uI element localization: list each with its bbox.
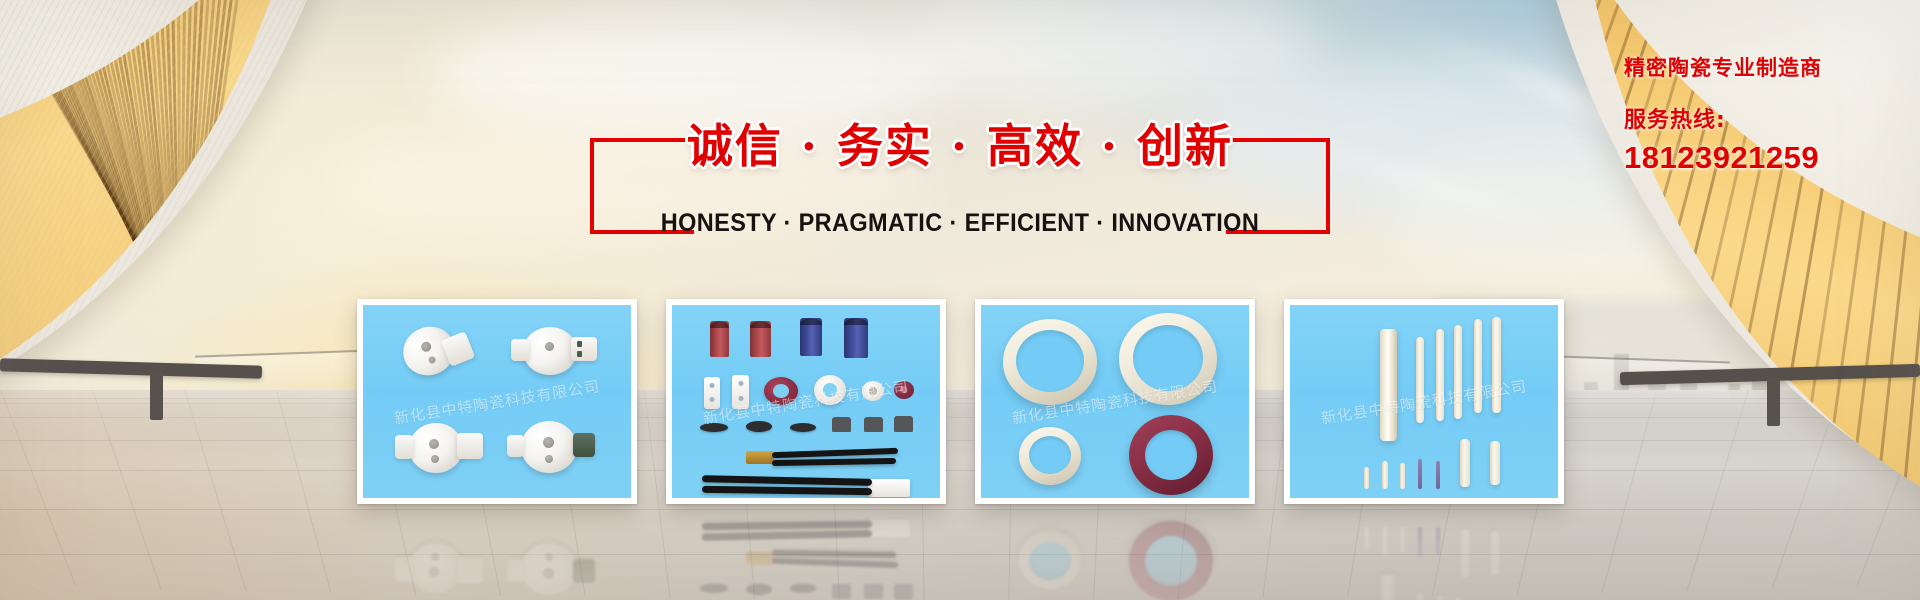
- white-connector: [868, 479, 910, 497]
- holder-hole: [428, 355, 437, 364]
- ceramic-ring-red: [764, 377, 798, 405]
- holder-hole: [429, 439, 439, 449]
- ceramic-lamp-holder: [523, 327, 577, 375]
- ceramic-plate: [732, 375, 749, 409]
- holder-tab-reflection: [457, 557, 483, 583]
- panel-image: 新化县中特陶瓷科技有限公司: [981, 305, 1249, 498]
- holder-hole: [420, 340, 433, 353]
- hotline-number[interactable]: 18123921259: [1624, 140, 1884, 176]
- product-panel-ceramic-rods-reflection: [1284, 512, 1564, 600]
- metal-clip: [894, 416, 913, 432]
- lead-wire-reflection: [772, 550, 896, 558]
- ceramic-rod-reflection: [1416, 593, 1424, 600]
- metal-leaf-contact-reflection: [700, 584, 728, 593]
- lead-wire-reflection: [702, 530, 872, 541]
- ceramic-ring-large: [1119, 313, 1217, 405]
- product-panel-row: 新化县中特陶瓷科技有限公司: [357, 299, 1564, 504]
- ceramic-lamp-holder-reflection: [409, 543, 463, 593]
- ceramic-ring-small-reflection: [1019, 531, 1081, 589]
- ceramic-pin-reflection: [1382, 527, 1388, 555]
- lead-wire: [772, 458, 896, 466]
- ceramic-pin: [1364, 467, 1369, 489]
- product-panel-insulators-and-leads[interactable]: 新化县中特陶瓷科技有限公司: [666, 299, 946, 504]
- holder-contact-pin: [577, 341, 582, 347]
- product-panel-ceramic-lamp-holders[interactable]: 新化县中特陶瓷科技有限公司: [357, 299, 637, 504]
- panel-image: 新化县中特陶瓷科技有限公司: [1290, 305, 1558, 498]
- ceramic-pin: [1400, 463, 1405, 489]
- ceramic-pin-reflection: [1400, 527, 1405, 553]
- holder-hole: [545, 455, 553, 463]
- product-panel-insulators-and-leads-reflection: [666, 512, 946, 600]
- ceramic-pin: [1382, 461, 1388, 489]
- ceramic-rod-large: [1380, 329, 1397, 441]
- ceramic-tube-blue: [800, 318, 822, 356]
- holder-contact-pin: [577, 351, 582, 357]
- ceramic-lamp-holder-reflection: [521, 543, 577, 595]
- panel-image: 新化县中特陶瓷科技有限公司: [363, 305, 631, 498]
- hero-banner: 诚信 · 务实 · 高效 · 创新 HONESTY · PRAGMATIC · …: [0, 0, 1920, 600]
- ceramic-pin-purple: [1418, 459, 1422, 489]
- ceramic-rod-short-reflection: [1460, 529, 1470, 577]
- handrail-post-right: [1767, 378, 1780, 426]
- metal-clip: [832, 417, 851, 432]
- metal-leaf-contact: [790, 423, 816, 432]
- brass-terminal-reflection: [746, 552, 774, 565]
- holder-hole-reflection: [545, 553, 553, 561]
- ceramic-tube-red: [710, 321, 729, 357]
- holder-tab: [511, 339, 529, 361]
- ceramic-washer-red: [894, 381, 914, 399]
- panel-image: 新化县中特陶瓷科技有限公司: [672, 305, 940, 498]
- panel-image-reflection: [981, 518, 1249, 600]
- holder-pin-block: [573, 433, 595, 457]
- holder-tab: [395, 435, 413, 459]
- slogan-chinese: 诚信 · 务实 · 高效 · 创新: [590, 110, 1330, 176]
- contact-block: 精密陶瓷专业制造商 服务热线: 18123921259: [1624, 52, 1884, 176]
- ceramic-pin-purple-reflection: [1436, 527, 1440, 555]
- metal-clip-reflection: [864, 584, 883, 599]
- ceramic-pin-purple: [1436, 461, 1440, 489]
- holder-tab: [507, 435, 524, 457]
- ceramic-rod-large-reflection: [1380, 575, 1397, 600]
- product-panel-ceramic-rings-reflection: [975, 512, 1255, 600]
- metal-leaf-contact-reflection: [790, 584, 816, 593]
- ceramic-ring-large: [1003, 319, 1097, 405]
- ceramic-ring-small: [1019, 427, 1081, 485]
- metal-leaf-contact: [700, 423, 728, 432]
- metal-clip: [864, 417, 883, 432]
- ceramic-ring-red-large: [1129, 415, 1213, 495]
- lead-wire: [702, 475, 872, 486]
- ceramic-rod-short: [1460, 439, 1470, 487]
- ceramic-washer-white: [862, 381, 884, 401]
- brass-terminal: [746, 451, 774, 464]
- panel-image-reflection: [672, 518, 940, 600]
- ceramic-rod: [1492, 317, 1501, 413]
- handrail-post-left: [150, 372, 163, 420]
- ceramic-tube-red: [750, 321, 771, 357]
- ceramic-pin-reflection: [1364, 527, 1369, 549]
- holder-tab: [571, 337, 597, 361]
- ceramic-rod: [1416, 337, 1424, 423]
- lead-wire-reflection: [772, 558, 898, 568]
- ceramic-rod: [1474, 319, 1482, 413]
- holder-hole-reflection: [543, 568, 554, 579]
- panel-watermark: 新化县中特陶瓷科技有限公司: [393, 375, 602, 428]
- holder-hole: [543, 437, 554, 448]
- metal-clip-reflection: [894, 584, 913, 600]
- metal-leaf-contact-reflection: [746, 584, 772, 595]
- metal-leaf-contact: [746, 421, 772, 432]
- ceramic-rod: [1454, 325, 1462, 419]
- company-tagline: 精密陶瓷专业制造商: [1624, 52, 1884, 82]
- lead-wire: [702, 486, 872, 495]
- ceramic-rod: [1436, 329, 1444, 421]
- product-panel-ceramic-lamp-holders-reflection: [357, 512, 637, 600]
- holder-tab-reflection: [395, 557, 413, 581]
- lead-wire-reflection: [702, 521, 872, 530]
- holder-hole-reflection: [431, 553, 439, 561]
- product-panel-ceramic-rods[interactable]: 新化县中特陶瓷科技有限公司: [1284, 299, 1564, 504]
- panel-image-reflection: [1290, 518, 1558, 600]
- holder-pin-block-reflection: [573, 559, 595, 583]
- slogan-english: HONESTY · PRAGMATIC · EFFICIENT · INNOVA…: [612, 209, 1308, 238]
- ceramic-ring-white: [814, 375, 846, 405]
- metal-clip-reflection: [832, 584, 851, 599]
- ceramic-rod-short: [1490, 441, 1500, 485]
- ceramic-tube-blue: [844, 318, 868, 358]
- product-panel-ceramic-rings[interactable]: 新化县中特陶瓷科技有限公司: [975, 299, 1255, 504]
- ceramic-rod-short-reflection: [1490, 531, 1500, 575]
- panel-image-reflection: [363, 518, 631, 600]
- holder-hole-reflection: [429, 567, 439, 577]
- ceramic-lamp-holder: [521, 421, 577, 473]
- hotline-label: 服务热线:: [1624, 102, 1884, 134]
- panel-reflections: [357, 512, 1564, 600]
- ceramic-lamp-holder: [409, 423, 463, 473]
- holder-hole: [545, 342, 554, 351]
- white-connector-reflection: [868, 519, 910, 537]
- holder-tab: [457, 433, 483, 459]
- ceramic-ring-red-large-reflection: [1129, 521, 1213, 600]
- ceramic-plate: [704, 377, 720, 409]
- lead-wire: [772, 448, 898, 458]
- holder-tab-reflection: [507, 559, 524, 581]
- ceramic-pin-purple-reflection: [1418, 527, 1422, 557]
- ceramic-rod-reflection: [1436, 595, 1444, 600]
- slogan-block: 诚信 · 务实 · 高效 · 创新 HONESTY · PRAGMATIC · …: [590, 138, 1330, 234]
- holder-hole: [431, 455, 439, 463]
